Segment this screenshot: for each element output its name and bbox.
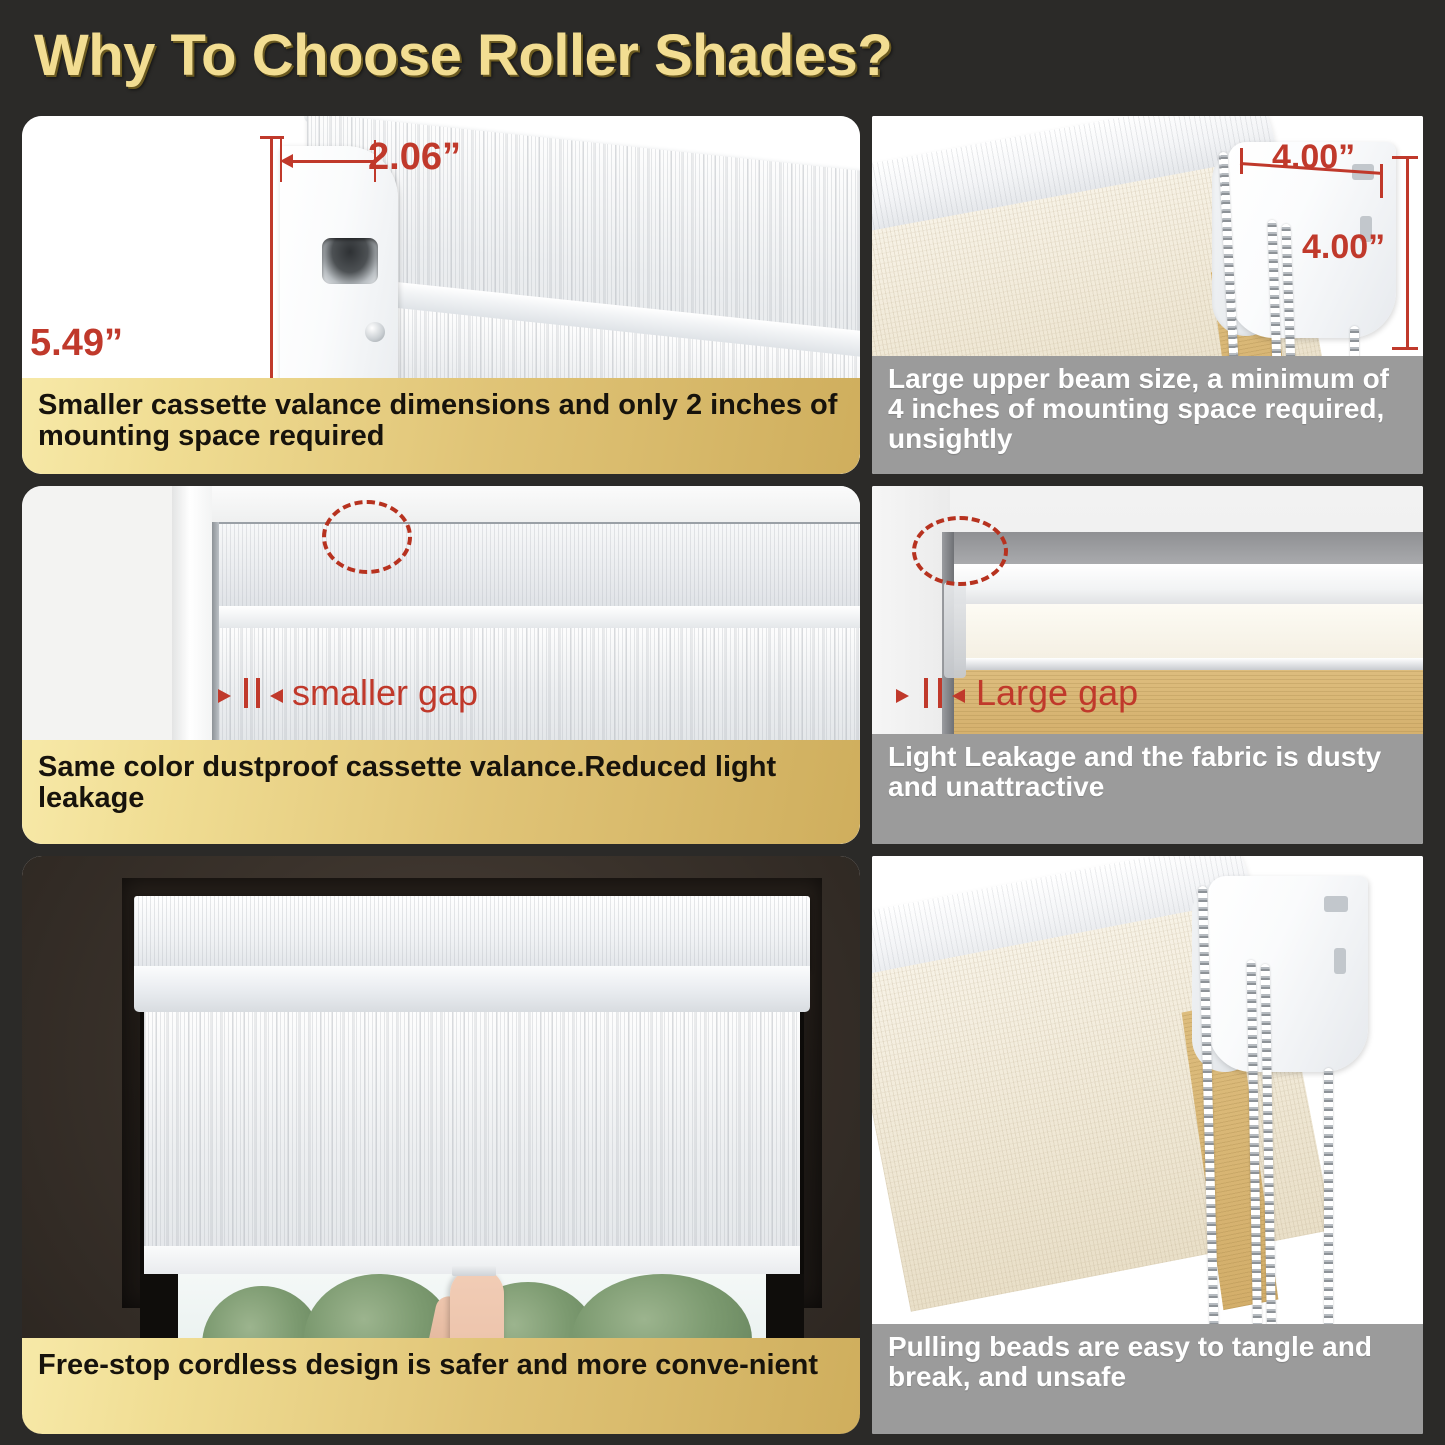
dim-label-height: 5.49” [30, 322, 123, 365]
dim-tick-top [260, 136, 284, 139]
dim-line-width [284, 160, 376, 163]
dim-label-width: 4.00” [1272, 138, 1355, 177]
caption-good-row3: Free-stop cordless design is safer and m… [22, 1338, 860, 1434]
panel-good-dustproof-valance: smaller gap Same color dustproof cassett… [22, 486, 860, 844]
gap-arrow-left [896, 689, 909, 703]
panel-good-cordless-design: Free-stop cordless design is safer and m… [22, 856, 860, 1434]
dim-tick-left [1240, 148, 1243, 174]
panel-bad-light-leakage: Large gap Light Leakage and the fabric i… [872, 486, 1423, 844]
panel-good-cassette-dimensions: 2.06” 5.49” Smaller cassette valance dim… [22, 116, 860, 474]
valance-slot-icon [322, 238, 378, 284]
caption-bad-row2: Light Leakage and the fabric is dusty an… [872, 734, 1423, 844]
gap-arrow-left [218, 689, 231, 703]
gap-arrow-right [270, 689, 283, 703]
bracket-notch-1 [1324, 896, 1348, 912]
gap-label: Large gap [976, 672, 1138, 714]
dim-tick-right [1380, 164, 1383, 198]
dim-tick-bottom [1392, 347, 1418, 350]
bracket-notch-2 [1334, 948, 1346, 974]
valance-side-edge [212, 522, 219, 746]
dim-arrow-left [280, 154, 293, 168]
screw-icon-upper [365, 322, 385, 342]
caption-good-row1: Smaller cassette valance dimensions and … [22, 378, 860, 474]
bead-chain-4 [1324, 1068, 1333, 1350]
panel-bad-large-beam: 4.00” 4.00” Large upper beam size, a min… [872, 116, 1423, 474]
caption-bad-row1: Large upper beam size, a minimum of 4 in… [872, 356, 1423, 474]
infographic-page: Why To Choose Roller Shades? 2.06” [0, 0, 1445, 1445]
dim-line-height [1406, 156, 1409, 350]
cassette-valance [218, 522, 860, 610]
valance-rail [218, 606, 860, 628]
caption-good-row2: Same color dustproof cassette valance.Re… [22, 740, 860, 844]
end-clip [944, 582, 966, 678]
shade-lip [950, 658, 1423, 670]
highlight-ellipse-icon [322, 500, 412, 574]
cassette-valance [134, 896, 810, 970]
gap-mark-2 [938, 678, 942, 708]
gap-label: smaller gap [292, 672, 478, 714]
dim-label-width: 2.06” [368, 136, 461, 179]
shade-fabric-top [954, 604, 1423, 662]
dim-tick-top [1392, 156, 1418, 159]
pull-tab [452, 1266, 496, 1276]
gap-arrow-right [952, 689, 965, 703]
panel-bad-pulling-beads: Pulling beads are easy to tangle and bre… [872, 856, 1423, 1434]
gap-mark-1 [924, 678, 928, 708]
page-title: Why To Choose Roller Shades? [34, 22, 892, 89]
caption-bad-row3: Pulling beads are easy to tangle and bre… [872, 1324, 1423, 1434]
gap-mark-1 [244, 678, 248, 708]
valance-front-bar [134, 966, 810, 1012]
highlight-ellipse-icon [912, 516, 1008, 586]
gap-mark-2 [256, 678, 260, 708]
comparison-grid: 2.06” 5.49” Smaller cassette valance dim… [0, 108, 1445, 1445]
shade-fabric [144, 1012, 800, 1274]
dim-label-height: 4.00” [1302, 228, 1385, 267]
